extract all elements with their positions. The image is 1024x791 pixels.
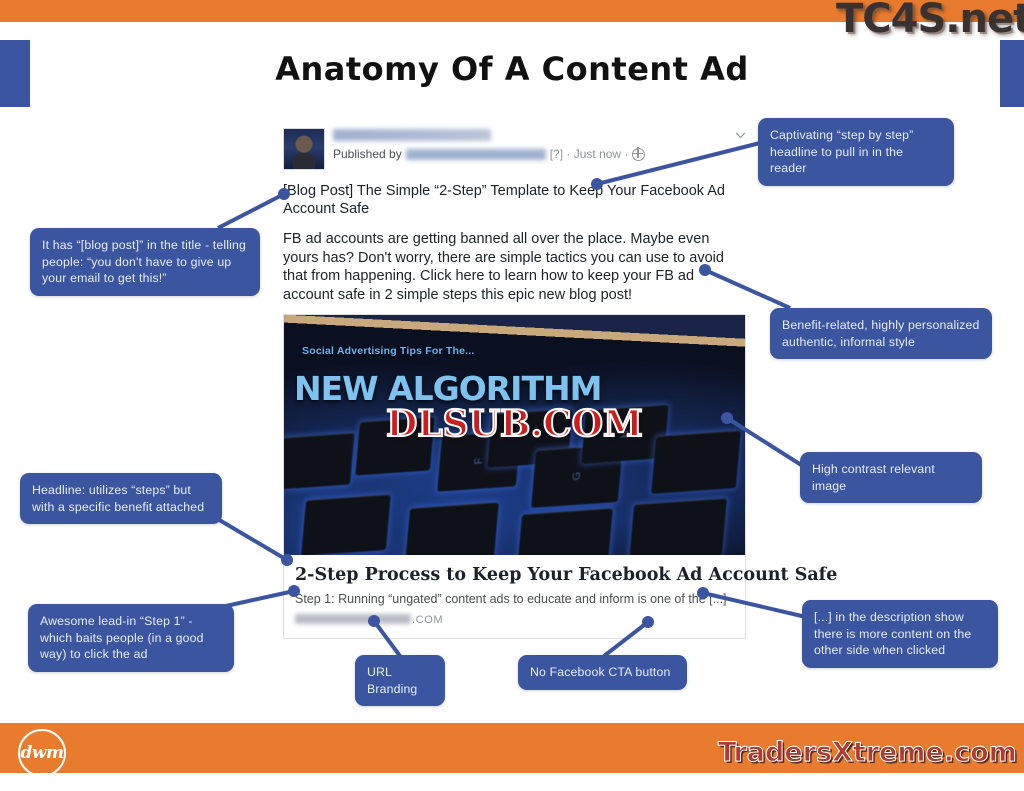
callout-benefit-related[interactable]: Benefit-related, highly personalized aut…: [770, 308, 992, 359]
ad-body-text: FB ad accounts are getting banned all ov…: [283, 230, 735, 304]
url-suffix: .COM: [412, 614, 443, 626]
connector-blogpost: [218, 194, 284, 228]
watermark-dlsub: DLSUB.COM: [386, 403, 643, 445]
keycap: [629, 498, 727, 555]
link-url: .COM: [295, 614, 734, 626]
keycap: [651, 430, 741, 494]
keycap: [284, 433, 355, 490]
keycap: [301, 494, 391, 555]
link-title: 2-Step Process to Keep Your Facebook Ad …: [295, 565, 734, 586]
link-preview-image: F G H Social Advertising Tips For The...…: [284, 315, 745, 555]
page-title: Anatomy Of A Content Ad: [0, 50, 1024, 88]
connector-headline: [216, 518, 287, 560]
ad-headline-text: [Blog Post] The Simple “2-Step” Template…: [283, 182, 728, 218]
callout-blog-post-title[interactable]: It has “[blog post]” in the title - tell…: [30, 228, 260, 296]
published-by-label: Published by: [333, 147, 402, 161]
image-kicker-text: Social Advertising Tips For The...: [302, 345, 475, 357]
callout-url-branding[interactable]: URL Branding: [355, 655, 445, 706]
publisher-name-blurred: [406, 149, 546, 160]
callout-headline-steps[interactable]: Headline: utilizes “steps” but with a sp…: [20, 473, 222, 524]
callout-high-contrast-image[interactable]: High contrast relevant image: [800, 452, 982, 503]
callout-no-facebook-cta[interactable]: No Facebook CTA button: [518, 655, 687, 690]
ad-meta-line: Published by [?] · Just now ·: [333, 147, 746, 161]
globe-icon: [632, 148, 645, 161]
dwm-logo: dwm: [18, 729, 66, 777]
link-description: Step 1: Running “ungated” content ads to…: [295, 591, 734, 607]
keycap: [517, 508, 613, 555]
url-domain-blurred: [295, 614, 411, 624]
slide-canvas: TC4S.net Anatomy Of A Content Ad Publish…: [0, 0, 1024, 791]
bottom-white-strip: [0, 773, 1024, 791]
tradersxtreme-logo: TradersXtreme.com: [718, 737, 1017, 768]
callout-lead-in-step-1[interactable]: Awesome lead-in “Step 1” - which baits p…: [28, 604, 234, 672]
chevron-down-icon[interactable]: [735, 132, 746, 139]
facebook-ad-card: Published by [?] · Just now · [Blog Post…: [283, 126, 746, 639]
callout-captivating-headline[interactable]: Captivating “step by step” headline to p…: [758, 118, 954, 186]
avatar: [283, 128, 325, 170]
callout-ellipsis-description[interactable]: [...] in the description show there is m…: [802, 600, 998, 668]
ad-timestamp: [?] · Just now ·: [550, 147, 629, 161]
keycap: [405, 502, 499, 555]
ad-author-header: Published by [?] · Just now ·: [283, 126, 746, 176]
link-preview-card[interactable]: F G H Social Advertising Tips For The...…: [283, 314, 746, 639]
page-name-blurred[interactable]: [333, 129, 491, 141]
tc4s-logo: TC4S.net: [836, 0, 1024, 42]
link-preview-body: 2-Step Process to Keep Your Facebook Ad …: [284, 555, 745, 638]
